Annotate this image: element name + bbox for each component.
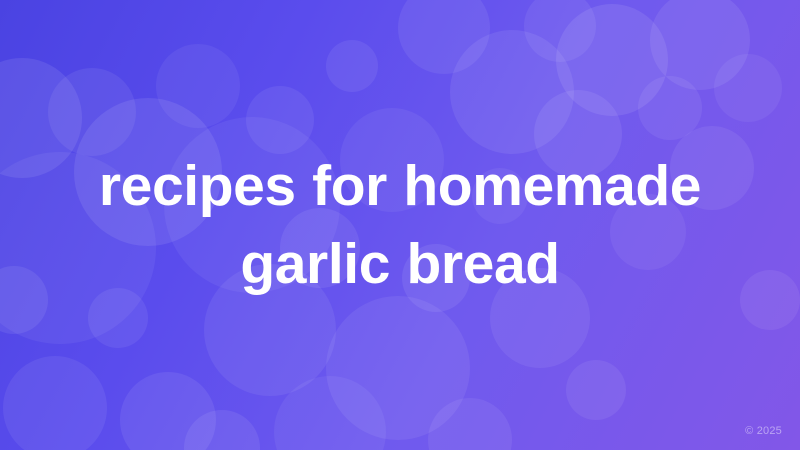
page-title: recipes for homemade garlic bread: [48, 147, 752, 303]
title-block: recipes for homemade garlic bread: [0, 0, 800, 450]
title-card-slide: recipes for homemade garlic bread © 2025: [0, 0, 800, 450]
copyright-notice: © 2025: [745, 424, 782, 438]
